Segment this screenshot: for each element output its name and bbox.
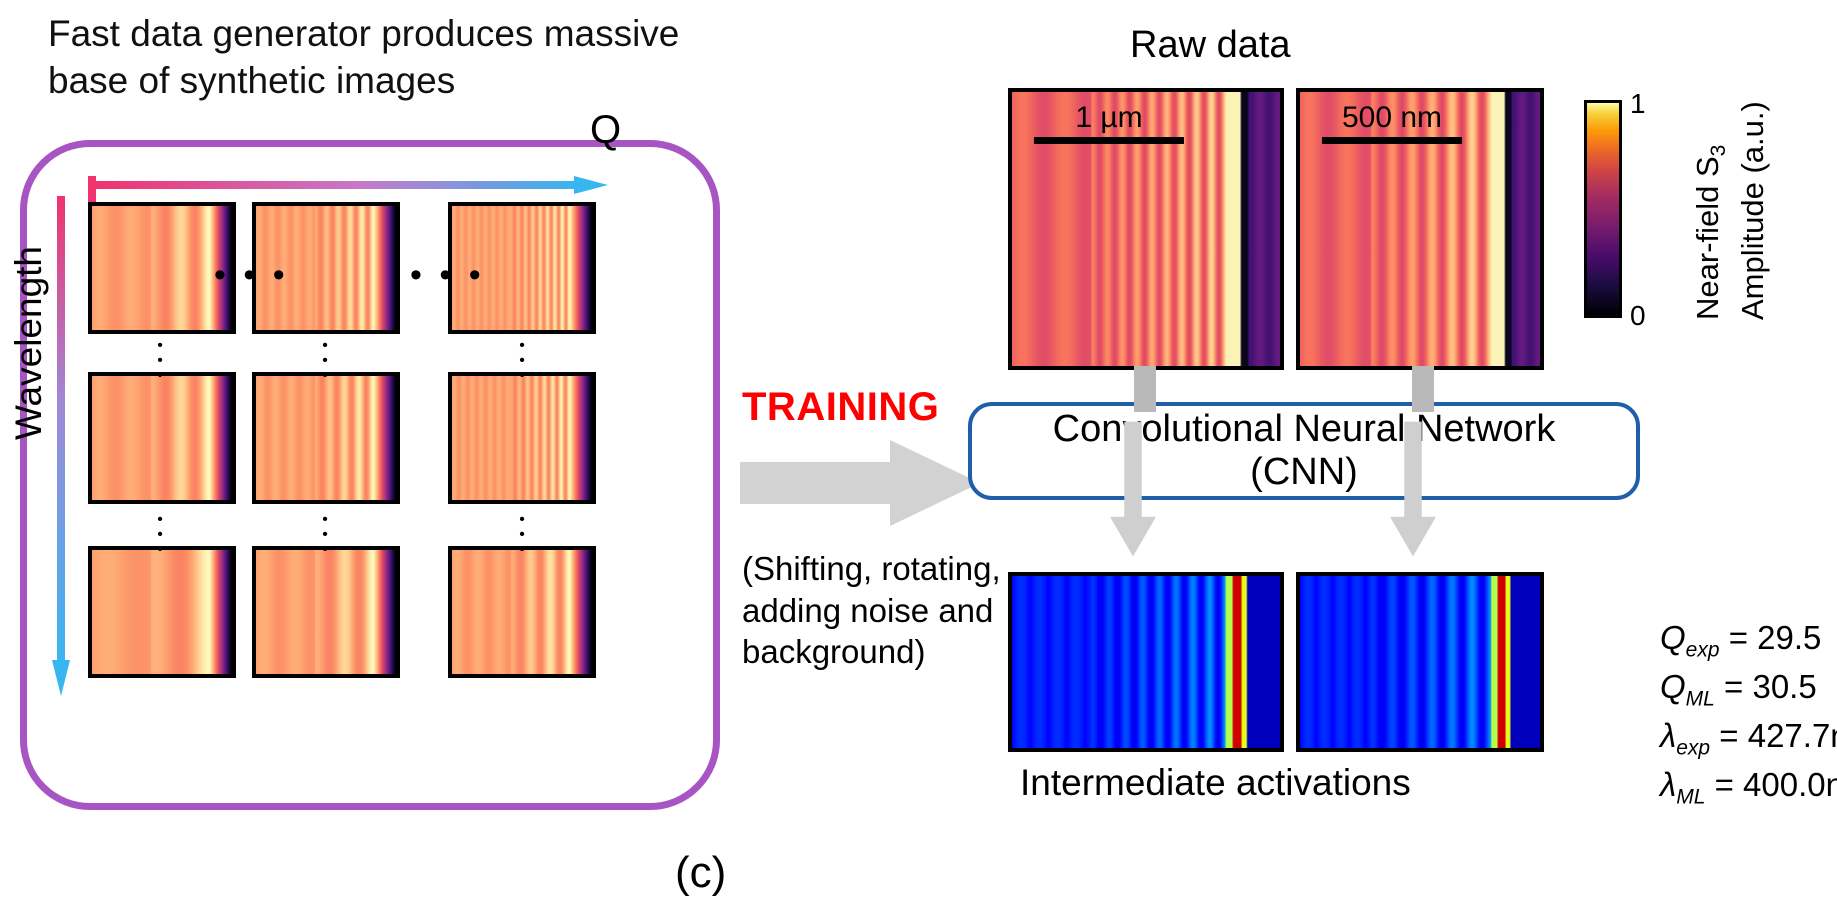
scale-bar: 1 µm: [1034, 102, 1184, 144]
scale-bar-line: [1322, 137, 1462, 144]
results-block: Qexp = 29.5QML = 30.5λexp = 427.7nmλML =…: [1660, 616, 1837, 813]
scale-bar-label: 500 nm: [1322, 102, 1462, 134]
wavelength-axis-label: Wavelength: [8, 246, 50, 440]
raw-data-title: Raw data: [1130, 24, 1291, 67]
grid-ellipsis-horizontal: • • •: [214, 258, 289, 292]
synthetic-image: [252, 546, 400, 678]
down-arrow-icon-left-bottom: [1110, 404, 1156, 574]
result-line: Qexp = 29.5: [1660, 616, 1837, 665]
wavelength-axis-arrow: [52, 196, 70, 696]
grid-ellipsis-vertical: •••: [315, 338, 335, 384]
headline-text: Fast data generator produces massive bas…: [48, 10, 688, 105]
grid-ellipsis-vertical: •••: [150, 338, 170, 384]
result-line: QML = 30.5: [1660, 665, 1837, 714]
colorbar-min-label: 0: [1630, 300, 1646, 332]
synthetic-image: [88, 546, 236, 678]
grid-ellipsis-vertical: •••: [512, 512, 532, 558]
result-line: λML = 400.0nm: [1660, 763, 1837, 812]
training-arrow-icon: [740, 440, 980, 526]
colorbar-max-label: 1: [1630, 88, 1646, 120]
grid-ellipsis-vertical: •••: [512, 338, 532, 384]
result-line: λexp = 427.7nm: [1660, 714, 1837, 763]
synthetic-image: [448, 546, 596, 678]
activation-image: [1296, 572, 1544, 752]
scale-bar: 500 nm: [1322, 102, 1462, 144]
grid-ellipsis-vertical: •••: [315, 512, 335, 558]
down-arrow-icon-right-bottom: [1390, 404, 1436, 574]
augmentation-text: (Shifting, rotating, adding noise and ba…: [742, 548, 1012, 673]
activations-title: Intermediate activations: [1020, 762, 1411, 804]
colorbar-label-text: Near-field S: [1690, 156, 1725, 320]
colorbar: [1584, 100, 1622, 318]
colorbar-label-line1: Near-field S3: [1690, 145, 1731, 320]
training-label: TRAINING: [742, 385, 939, 430]
scale-bar-label: 1 µm: [1034, 102, 1184, 134]
activation-image: [1008, 572, 1284, 752]
cnn-box: Convolutional Neural Network (CNN): [968, 402, 1640, 500]
panel-label: (c): [675, 848, 726, 898]
q-axis-arrow: [88, 176, 608, 194]
synthetic-image: [88, 372, 236, 504]
grid-ellipsis-vertical: •••: [150, 512, 170, 558]
scale-bar-line: [1034, 137, 1184, 144]
synthetic-image: [252, 372, 400, 504]
colorbar-label-line2: Amplitude (a.u.): [1735, 101, 1771, 320]
colorbar-label-subscript: 3: [1707, 145, 1730, 157]
synthetic-image: [448, 372, 596, 504]
grid-ellipsis-horizontal: • • •: [410, 258, 485, 292]
q-axis-label: Q: [590, 108, 621, 153]
cnn-line-2: (CNN): [1250, 451, 1358, 494]
